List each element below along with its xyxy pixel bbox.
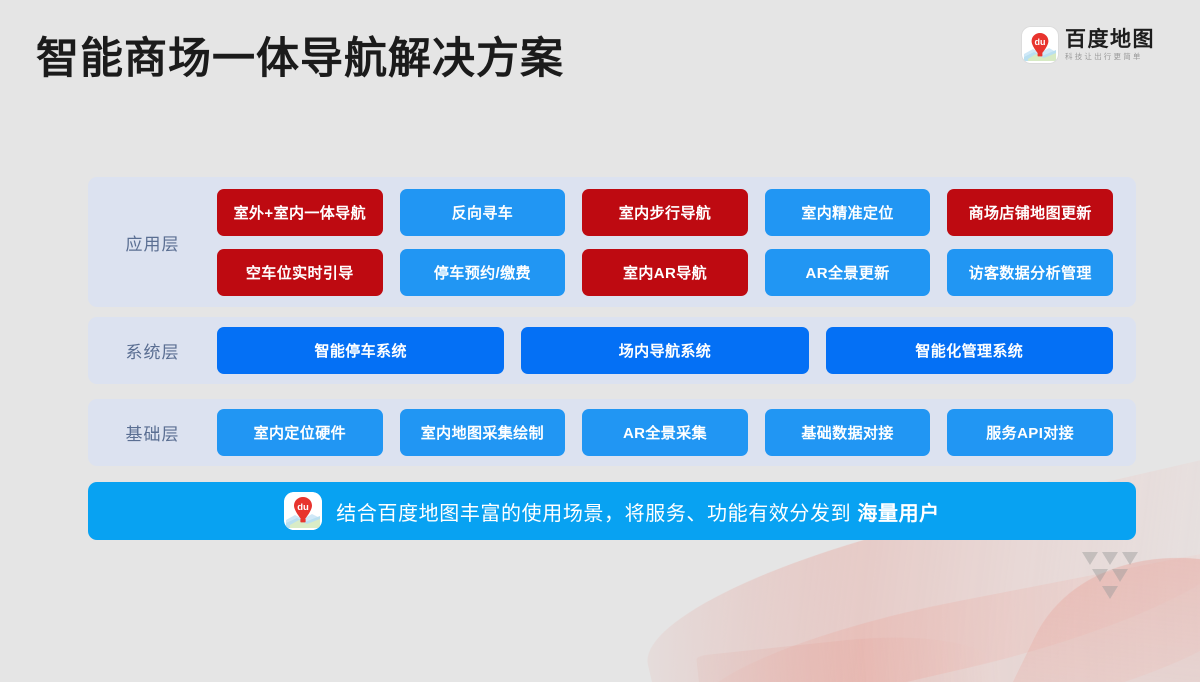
chip-basic-data-integration[interactable]: 基础数据对接 xyxy=(765,409,931,456)
layer-body-system: 智能停车系统 场内导航系统 智能化管理系统 xyxy=(217,327,1136,374)
ribbon-shape-4 xyxy=(696,625,1004,682)
layer-band-application: 应用层 室外+室内一体导航 反向寻车 室内步行导航 室内精准定位 商场店铺地图更… xyxy=(88,177,1136,307)
layer-label-foundation: 基础层 xyxy=(88,420,217,445)
chip-indoor-ar-nav[interactable]: 室内AR导航 xyxy=(582,249,748,296)
logo-brand-name: 百度地图 xyxy=(1065,29,1155,51)
layer-label-application: 应用层 xyxy=(88,230,217,255)
chip-parking-reservation-payment[interactable]: 停车预约/缴费 xyxy=(400,249,566,296)
chip-indoor-precise-positioning[interactable]: 室内精准定位 xyxy=(765,189,931,236)
baidu-map-pin-icon: du xyxy=(1022,27,1058,63)
chip-ar-panorama-update[interactable]: AR全景更新 xyxy=(765,249,931,296)
layer-band-system: 系统层 智能停车系统 场内导航系统 智能化管理系统 xyxy=(88,317,1136,384)
chip-ar-panorama-collection[interactable]: AR全景采集 xyxy=(582,409,748,456)
chip-row: 智能停车系统 场内导航系统 智能化管理系统 xyxy=(217,327,1113,374)
chip-indoor-positioning-hardware[interactable]: 室内定位硬件 xyxy=(217,409,383,456)
logo-text: 百度地图 科技让出行更简单 xyxy=(1065,29,1155,61)
baidu-map-logo: du 百度地图 科技让出行更简单 xyxy=(1022,27,1155,63)
chip-indoor-walking-nav[interactable]: 室内步行导航 xyxy=(582,189,748,236)
chip-venue-navigation-system[interactable]: 场内导航系统 xyxy=(521,327,808,374)
chip-outdoor-indoor-nav[interactable]: 室外+室内一体导航 xyxy=(217,189,383,236)
chip-row: 室外+室内一体导航 反向寻车 室内步行导航 室内精准定位 商场店铺地图更新 xyxy=(217,189,1113,236)
chip-mall-store-map-update[interactable]: 商场店铺地图更新 xyxy=(947,189,1113,236)
summary-banner: du 结合百度地图丰富的使用场景，将服务、功能有效分发到 海量用户 xyxy=(88,482,1136,540)
banner-message-highlight: 海量用户 xyxy=(857,503,939,525)
layer-label-system: 系统层 xyxy=(88,338,217,363)
layer-body-application: 室外+室内一体导航 反向寻车 室内步行导航 室内精准定位 商场店铺地图更新 空车… xyxy=(217,189,1136,296)
slide-canvas: 智能商场一体导航解决方案 du 百度地图 科技让出行更简单 应用层 室外+室内一… xyxy=(0,0,1200,682)
layer-band-foundation: 基础层 室内定位硬件 室内地图采集绘制 AR全景采集 基础数据对接 服务API对… xyxy=(88,399,1136,466)
chip-reverse-car-finding[interactable]: 反向寻车 xyxy=(400,189,566,236)
svg-text:du: du xyxy=(1035,37,1046,47)
chip-service-api-integration[interactable]: 服务API对接 xyxy=(947,409,1113,456)
banner-message-normal: 结合百度地图丰富的使用场景，将服务、功能有效分发到 xyxy=(336,503,857,525)
chip-visitor-data-analysis[interactable]: 访客数据分析管理 xyxy=(947,249,1113,296)
logo-tagline: 科技让出行更简单 xyxy=(1065,53,1155,61)
layer-body-foundation: 室内定位硬件 室内地图采集绘制 AR全景采集 基础数据对接 服务API对接 xyxy=(217,409,1136,456)
baidu-map-app-icon: du xyxy=(284,492,322,530)
svg-text:du: du xyxy=(297,502,309,513)
chip-row: 室内定位硬件 室内地图采集绘制 AR全景采集 基础数据对接 服务API对接 xyxy=(217,409,1113,456)
triangle-pattern-icon xyxy=(1082,552,1142,612)
banner-message: 结合百度地图丰富的使用场景，将服务、功能有效分发到 海量用户 xyxy=(336,497,940,526)
chip-smart-parking-system[interactable]: 智能停车系统 xyxy=(217,327,504,374)
page-title: 智能商场一体导航解决方案 xyxy=(36,24,564,86)
chip-indoor-map-collection[interactable]: 室内地图采集绘制 xyxy=(400,409,566,456)
chip-intelligent-management-system[interactable]: 智能化管理系统 xyxy=(826,327,1113,374)
chip-row: 空车位实时引导 停车预约/缴费 室内AR导航 AR全景更新 访客数据分析管理 xyxy=(217,249,1113,296)
ribbon-shape-2 xyxy=(684,548,1200,682)
chip-empty-parking-guidance[interactable]: 空车位实时引导 xyxy=(217,249,383,296)
